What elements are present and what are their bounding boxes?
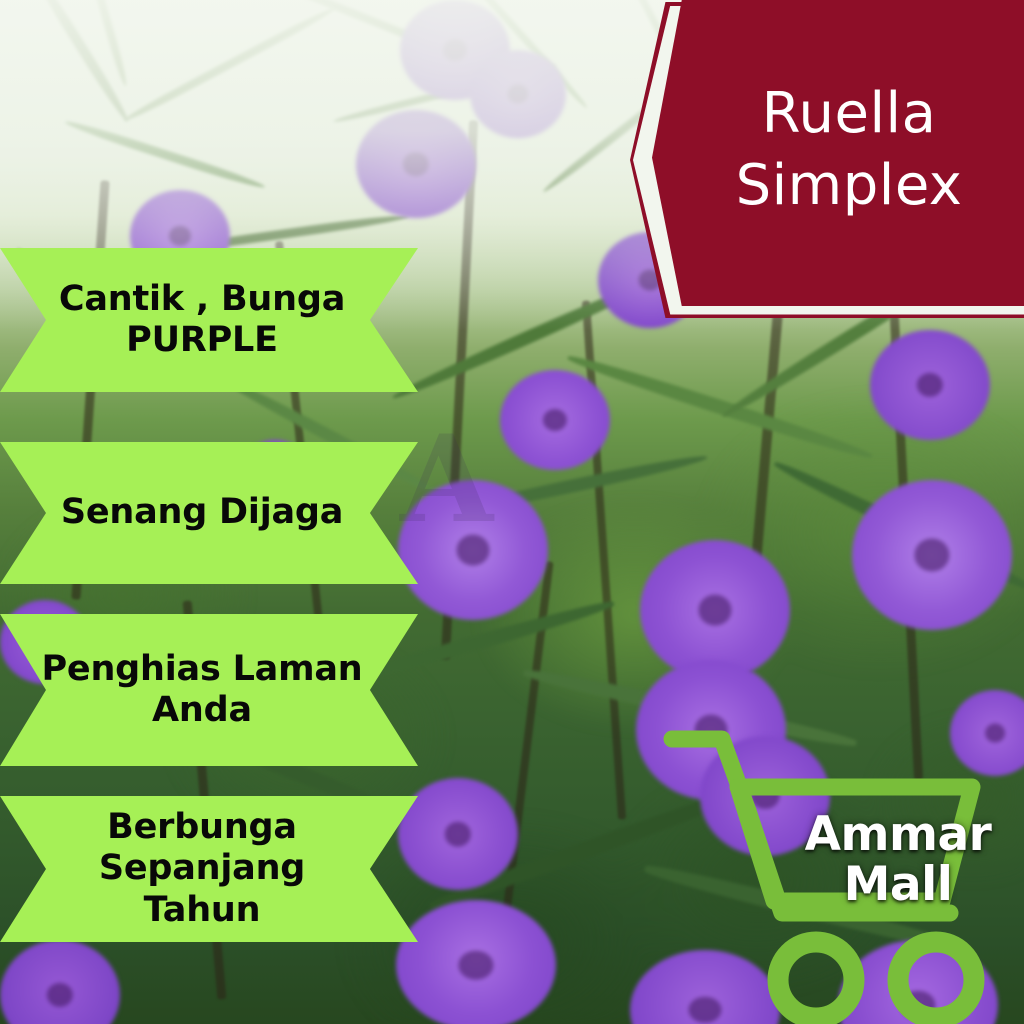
title-line-2: Simplex [736, 153, 963, 218]
brand-logo-label: Ammar Mall [778, 810, 1018, 911]
feature-banner-2: Senang Dijaga [0, 442, 418, 584]
brand-name-line-1: Ammar [805, 807, 992, 862]
feature-banner-1-line-1: Cantik , Bunga [59, 279, 345, 319]
title-line-1: Ruella [762, 81, 937, 146]
cart-wheel-right [898, 942, 974, 1018]
feature-banner-1: Cantik , Bunga PURPLE [0, 248, 418, 392]
feature-banner-3-line-1: Penghias Laman [41, 649, 362, 689]
brand-name-line-2: Mall [844, 857, 953, 912]
feature-banner-2-text: Senang Dijaga [0, 492, 418, 533]
feature-banner-4-line-2: Tahun [144, 890, 261, 930]
brand-logo: Ammar Mall [660, 715, 1024, 1024]
feature-banner-3-line-2: Anda [152, 690, 252, 730]
feature-banner-3: Penghias Laman Anda [0, 614, 418, 766]
feature-banner-1-line-2: PURPLE [126, 320, 278, 360]
feature-banner-1-text: Cantik , Bunga PURPLE [0, 279, 418, 362]
feature-banner-2-line-1: Senang Dijaga [61, 492, 343, 532]
feature-banner-4: Berbunga Sepanjang Tahun [0, 796, 418, 942]
feature-banner-3-text: Penghias Laman Anda [0, 649, 418, 732]
title-badge-text: Ruella Simplex [700, 78, 977, 227]
cart-wheel-left [778, 942, 854, 1018]
title-badge: Ruella Simplex [652, 0, 1024, 306]
feature-banner-4-text: Berbunga Sepanjang Tahun [0, 807, 418, 931]
feature-banner-4-line-1: Berbunga Sepanjang [99, 807, 305, 888]
product-poster: A Ruella Simplex Cantik , Bunga PURPLE S… [0, 0, 1024, 1024]
